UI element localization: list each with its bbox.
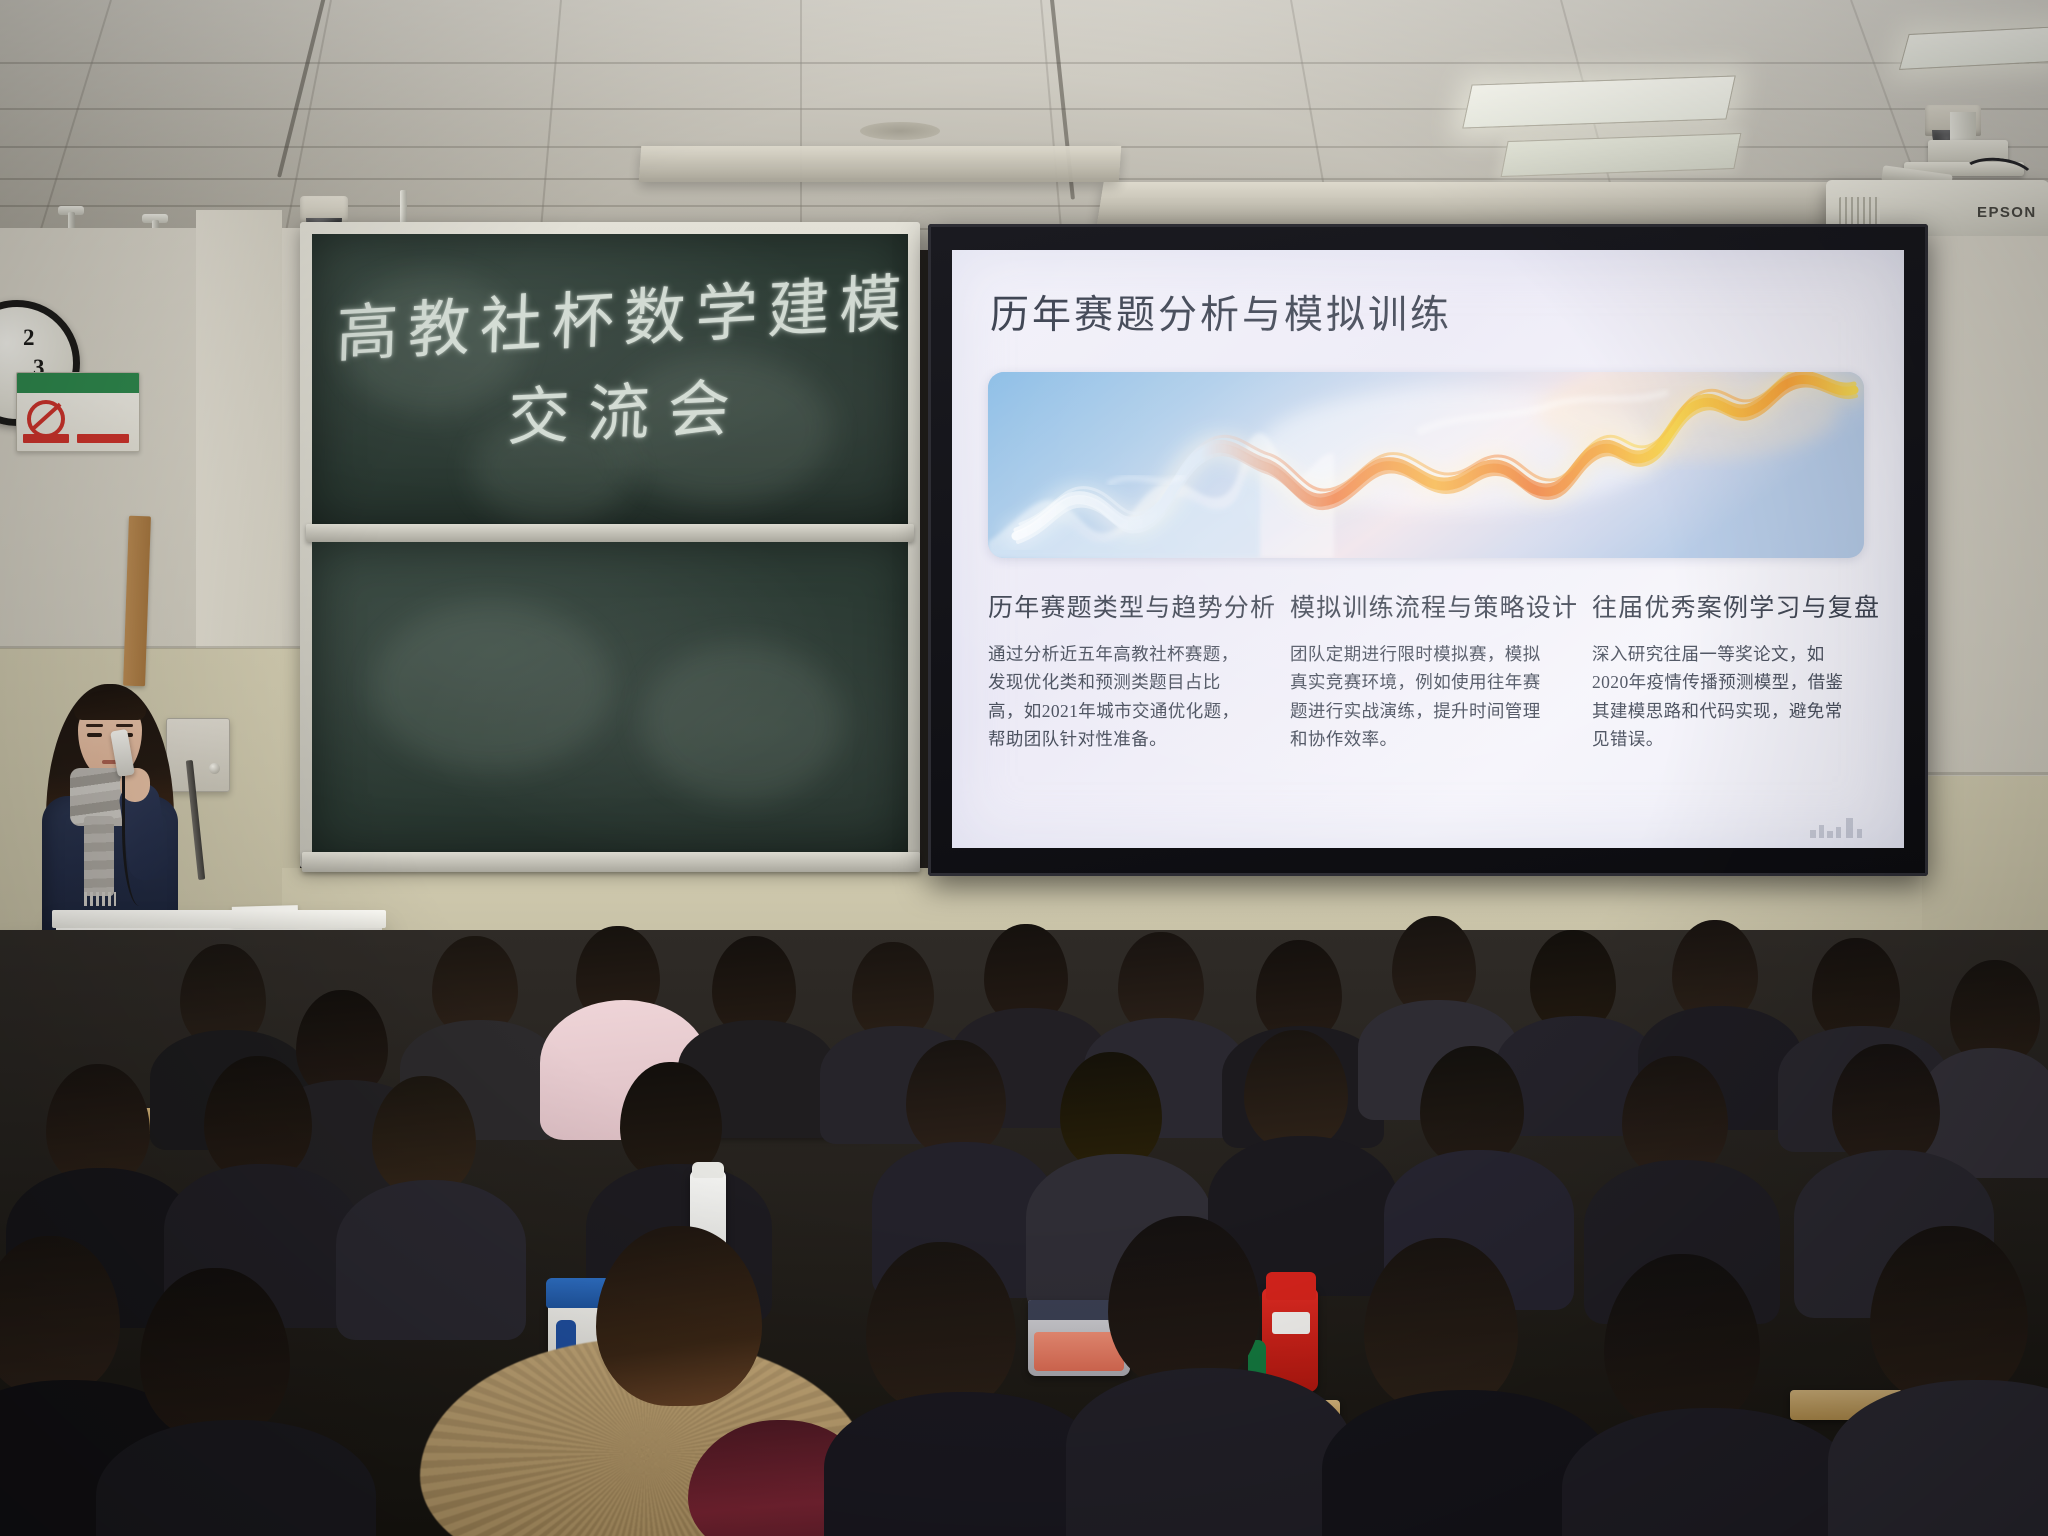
audience-head <box>866 1242 1016 1412</box>
audience-head <box>906 1040 1006 1156</box>
presentation-slide: 历年赛题分析与模拟训练 <box>952 250 1904 848</box>
column-body: 团队定期进行限时模拟赛，模拟真实竞赛环境，例如使用往年赛题进行实战演练，提升时间… <box>1290 640 1552 753</box>
clock-numeral: 2 <box>23 325 35 351</box>
lecture-hall-scene: EPSON 2 3 4 高教社杯数学建模 交流会 <box>0 0 2048 1536</box>
ceiling-vent-hole <box>860 122 940 140</box>
blackboard-panel-lower <box>312 542 908 854</box>
ceiling-soffit <box>1096 182 1903 228</box>
slide-watermark <box>1810 816 1872 838</box>
audience-head <box>140 1268 290 1440</box>
audience-head <box>372 1076 476 1196</box>
red-thermos-lid <box>1266 1272 1316 1300</box>
slide-column-3: 往届优秀案例学习与复盘 深入研究往届一等奖论文，如2020年疫情传播预测模型，借… <box>1592 588 1860 753</box>
audience-body <box>824 1392 1104 1536</box>
audience-head <box>1108 1216 1260 1388</box>
audience-head <box>1870 1226 2028 1404</box>
wall-seam <box>0 646 300 649</box>
slide-column-1: 历年赛题类型与趋势分析 通过分析近五年高教社杯赛题，发现优化类和预测类题目占比高… <box>988 588 1250 753</box>
abstract-wave-graphic <box>988 372 1864 558</box>
audience-body <box>1066 1368 1352 1536</box>
no-smoking-sign <box>16 372 140 452</box>
blackboard-chalk-rail <box>306 524 914 542</box>
slide-column-2: 模拟训练流程与策略设计 团队定期进行限时模拟赛，模拟真实竞赛环境，例如使用往年赛… <box>1290 588 1552 753</box>
column-heading: 模拟训练流程与策略设计 <box>1290 588 1552 624</box>
thermos-label <box>1272 1312 1310 1334</box>
audience-head <box>1604 1254 1760 1430</box>
column-heading: 历年赛题类型与趋势分析 <box>988 588 1250 624</box>
blackboard-title-line2: 交流会 <box>506 357 750 457</box>
audience-body <box>336 1180 526 1340</box>
audience-head <box>596 1226 762 1406</box>
blackboard-bottom-rail <box>302 852 920 872</box>
projector-brand-label: EPSON <box>1977 204 2037 221</box>
slide-title: 历年赛题分析与模拟训练 <box>990 284 1452 340</box>
audience-head <box>1364 1238 1518 1412</box>
ceiling-light-panel <box>1899 26 2048 70</box>
column-heading: 往届优秀案例学习与复盘 <box>1592 588 1860 624</box>
thermos-cap <box>692 1162 724 1178</box>
column-body: 通过分析近五年高教社杯赛题，发现优化类和预测类题目占比高，如2021年城市交通优… <box>988 640 1250 753</box>
column-body: 深入研究往届一等奖论文，如2020年疫情传播预测模型，借鉴其建模思路和代码实现，… <box>1592 640 1860 753</box>
slide-hero-image <box>988 372 1864 558</box>
presenter <box>28 680 228 940</box>
audience-head <box>1244 1030 1348 1150</box>
ceiling-soffit <box>639 146 1122 182</box>
audience-head <box>1060 1052 1162 1170</box>
audience-head <box>1420 1046 1524 1166</box>
